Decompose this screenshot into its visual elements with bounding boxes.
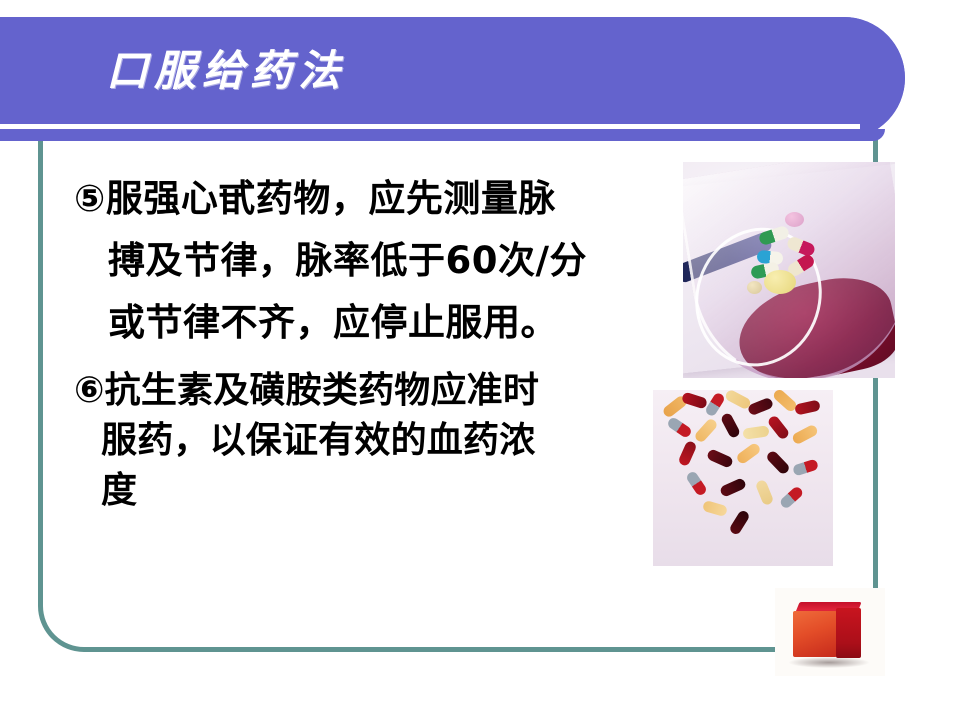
photo1-tablet [785,212,804,227]
body-content: ⑤服强心甙药物，应先测量脉 搏及节律，脉率低于60次/分 或节律不齐，应停止服用… [74,168,674,516]
list-item-6: ⑥抗生素及磺胺类药物应准时 服药，以保证有效的血药浓 度 [74,366,674,516]
list-item-5-line-3: 或节律不齐，应停止服用。 [74,292,674,354]
photo1-tablet [747,281,762,294]
title-banner-lower-band [0,129,885,141]
cube-right-face [836,608,861,658]
red-cube-decoration [775,588,885,676]
photo1-tablet [764,270,796,294]
list-item-5-line-2: 搏及节律，脉率低于60次/分 [74,230,674,292]
list-item-5: ⑤服强心甙药物，应先测量脉 搏及节律，脉率低于60次/分 或节律不齐，应停止服用… [74,168,674,354]
scattered-capsules-photo [653,390,833,566]
slide-canvas: 口服给药法 ⑤服强心甙药物，应先测量脉 搏及节律，脉率低于60次/分 或节律不齐… [0,0,960,720]
list-item-6-line-3: 度 [74,466,674,516]
list-item-6-line-1: ⑥抗生素及磺胺类药物应准时 [74,366,674,416]
pills-in-glass-photo [683,162,895,378]
photo2-background [653,390,833,566]
cube-shape [793,602,865,660]
cube-left-face [793,611,837,657]
cube-shadow [789,657,869,668]
list-item-5-line-1: ⑤服强心甙药物，应先测量脉 [74,168,674,230]
list-item-6-line-2: 服药，以保证有效的血药浓 [74,416,674,466]
title-banner-underline [0,124,860,129]
page-title: 口服给药法 [106,50,346,92]
